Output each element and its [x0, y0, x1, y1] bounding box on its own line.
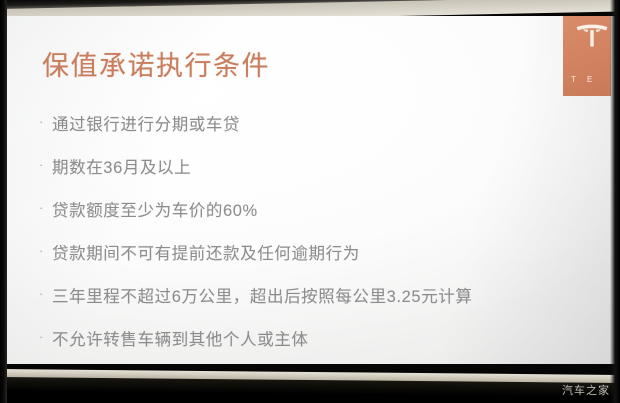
bullet-text: 贷款期间不可有提前还款及任何逾期行为 [52, 243, 360, 265]
tesla-wordmark: T E [571, 75, 597, 84]
bullet-item: · 不允许转售车辆到其他个人或主体 [39, 329, 579, 364]
tesla-t-logo-icon [565, 18, 611, 48]
projected-slide-photo: T E 保值承诺执行条件 · 通过银行进行分期或车贷 · 期数在36月及以上 ·… [0, 0, 620, 403]
bullet-marker-icon: · [39, 201, 52, 214]
bullet-marker-icon: · [39, 158, 52, 171]
bullet-text: 通过银行进行分期或车贷 [52, 114, 240, 136]
slide-title: 保值承诺执行条件 [42, 49, 270, 83]
screen-left-bezel [0, 0, 7, 403]
bullet-item: · 贷款期间不可有提前还款及任何逾期行为 [39, 243, 579, 286]
bullet-text: 不允许转售车辆到其他个人或主体 [52, 329, 309, 351]
bullet-marker-icon: · [39, 287, 52, 300]
site-watermark: 汽车之家 [562, 382, 610, 398]
bullet-text: 期数在36月及以上 [52, 157, 191, 179]
bullet-marker-icon: · [39, 330, 52, 343]
bullet-list: · 通过银行进行分期或车贷 · 期数在36月及以上 · 贷款额度至少为车价的60… [39, 114, 579, 364]
bullet-text: 三年里程不超过6万公里，超出后按照每公里3.25元计算 [52, 286, 473, 308]
screen-right-bezel [610, 0, 620, 403]
bullet-item: · 通过银行进行分期或车贷 [39, 114, 579, 157]
bullet-text: 贷款额度至少为车价的60% [52, 200, 258, 222]
bullet-marker-icon: · [39, 244, 52, 257]
bullet-item: · 期数在36月及以上 [39, 157, 579, 200]
bullet-item: · 贷款额度至少为车价的60% [39, 200, 579, 243]
tesla-brand-panel: T E [563, 16, 611, 96]
bullet-item: · 三年里程不超过6万公里，超出后按照每公里3.25元计算 [39, 286, 579, 329]
bullet-marker-icon: · [39, 115, 52, 128]
presentation-slide: T E 保值承诺执行条件 · 通过银行进行分期或车贷 · 期数在36月及以上 ·… [6, 16, 618, 364]
